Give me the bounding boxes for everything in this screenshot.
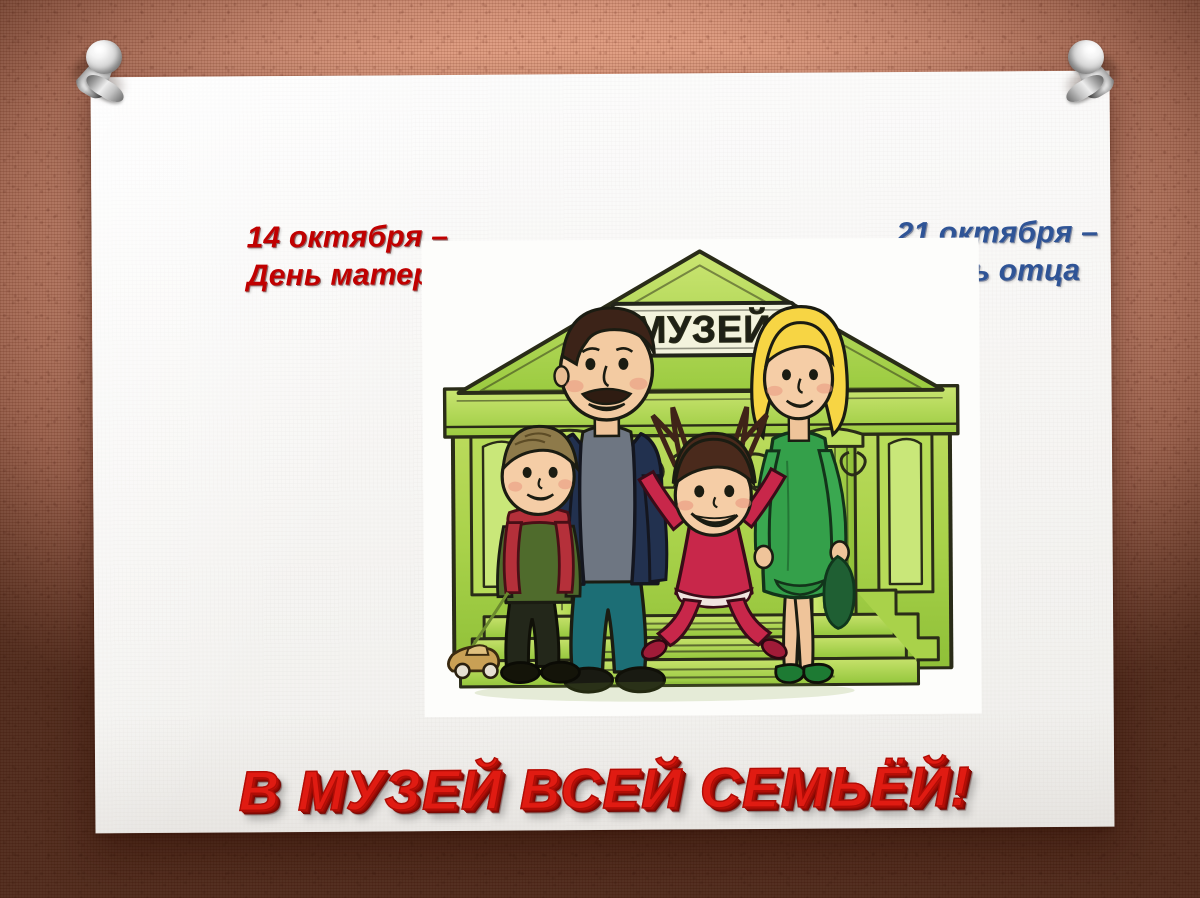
top-right-pushpin-icon <box>1052 32 1126 114</box>
mothers-day-heading: 14 октября – День матери <box>246 218 450 296</box>
slide-canvas: 14 октября – День матери 21 октября – Де… <box>0 0 1200 898</box>
paper-card: 14 октября – День матери 21 октября – Де… <box>91 71 1115 834</box>
slide-title-container: В МУЗЕЙ ВСЕЙ СЕМЬЁЙ! <box>95 753 1114 825</box>
pushpin-highlight <box>1083 45 1096 55</box>
museum-family-illustration: МУЗЕЙ <box>422 238 982 718</box>
svg-text:МУЗЕЙ: МУЗЕЙ <box>635 306 772 352</box>
slide-title: В МУЗЕЙ ВСЕЙ СЕМЬЁЙ! <box>238 754 970 824</box>
top-left-pushpin-icon <box>64 32 138 114</box>
pushpin-highlight <box>94 45 107 55</box>
